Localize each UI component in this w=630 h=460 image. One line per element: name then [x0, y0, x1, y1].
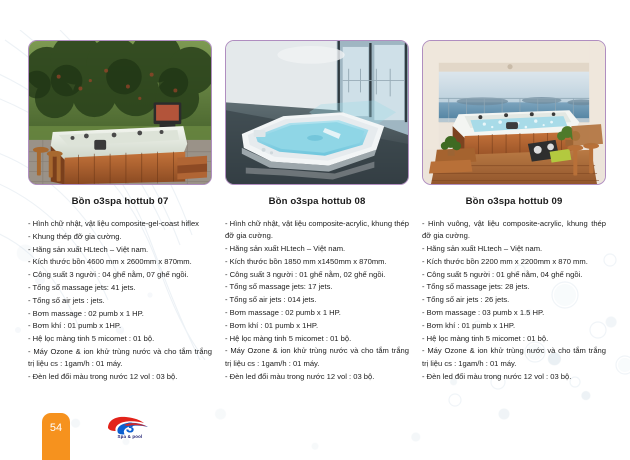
- spec-line: - Máy Ozone & ion khử trùng nước và cho …: [422, 345, 606, 370]
- spec-line: - Tổng số massage jets: 41 jets.: [28, 282, 212, 294]
- spec-line: - Hệ lọc màng tinh 5 micomet : 01 bộ.: [28, 333, 212, 345]
- spec-line: - Hãng sản xuất HLtech – Việt nam.: [225, 243, 409, 255]
- spec-line: - Công suất 3 người : 04 ghế nằm, 07 ghế…: [28, 269, 212, 281]
- spec-line: - Khung thép đỡ gia cường.: [28, 231, 212, 243]
- catalog-page: Bồn o3spa hottub 07 - Hình chữ nhật, vật…: [0, 0, 630, 460]
- spec-line: - Kích thước bồn 4600 mm x 2600mm x 870m…: [28, 256, 212, 268]
- spec-line: - Hệ lọc màng tinh 5 micomet : 01 bộ.: [422, 333, 606, 345]
- product-columns: Bồn o3spa hottub 07 - Hình chữ nhật, vật…: [28, 40, 606, 384]
- spec-line: - Công suất 3 người : 01 ghế nằm, 02 ghế…: [225, 269, 409, 281]
- spec-line: - Tổng số air jets : 014 jets.: [225, 294, 409, 306]
- spec-line: - Hình vuông, vật liệu composite-acrylic…: [422, 218, 606, 243]
- product-title-1: Bồn o3spa hottub 07: [28, 196, 212, 207]
- spec-line: - Tổng số massage jets: 28 jets.: [422, 281, 606, 293]
- product-title-3: Bồn o3spa hottub 09: [422, 196, 606, 207]
- spec-line: - Tổng số massage jets: 17 jets.: [225, 281, 409, 293]
- product-card-1: Bồn o3spa hottub 07 - Hình chữ nhật, vật…: [28, 40, 212, 384]
- spec-line: - Bơm khí : 01 pumb x 1HP.: [225, 320, 409, 332]
- product-title-2: Bồn o3spa hottub 08: [225, 196, 409, 207]
- spec-line: - Bơm khí : 01 pumb x 1HP.: [28, 320, 212, 332]
- product-card-3: Bồn o3spa hottub 09 - Hình vuông, vật li…: [422, 40, 606, 384]
- spec-line: - Tổng số air jets : 26 jets.: [422, 294, 606, 306]
- spec-line: - Đèn led đổi màu trong nước 12 vol : 03…: [225, 371, 409, 383]
- spec-line: - Kích thước bồn 1850 mm x1450mm x 870mm…: [225, 256, 409, 268]
- spec-line: - Máy Ozone & ion khử trùng nước và cho …: [28, 346, 212, 371]
- page-number: 54: [50, 422, 62, 434]
- spec-line: - Hãng sản xuất HLtech – Việt nam.: [422, 243, 606, 255]
- indoor-octagonal-spa-photo: [226, 41, 408, 184]
- product-specs-3: - Hình vuông, vật liệu composite-acrylic…: [422, 218, 606, 383]
- spec-line: - Kích thước bồn 2200 mm x 2200mm x 870 …: [422, 256, 606, 268]
- page-number-tab: 54: [42, 413, 70, 460]
- spec-line: - Máy Ozone & ion khử trùng nước và cho …: [225, 345, 409, 370]
- spec-line: - Bơm massage : 03 pumb x 1.5 HP.: [422, 307, 606, 319]
- spec-line: - Bơm khí : 01 pumb x 1HP.: [422, 320, 606, 332]
- spec-line: - Đèn led đổi màu trong nước 12 vol : 03…: [28, 371, 212, 383]
- product-specs-2: - Hình chữ nhật, vật liệu composite-acry…: [225, 218, 409, 383]
- spec-line: - Hãng sản xuất HLtech – Việt nam.: [28, 244, 212, 256]
- product-image-1[interactable]: [28, 40, 212, 185]
- outdoor-wood-surround-hot-tub-photo: [29, 41, 211, 184]
- product-specs-1: - Hình chữ nhật, vật liệu composite-gel-…: [28, 218, 212, 383]
- product-image-3[interactable]: [422, 40, 606, 185]
- spec-line: - Hệ lọc màng tinh 5 micomet : 01 bộ.: [225, 333, 409, 345]
- spec-line: - Bơm massage : 02 pumb x 1 HP.: [28, 308, 212, 320]
- logo-tagline: Spa & pool: [104, 434, 156, 439]
- spec-line: - Hình chữ nhật, vật liệu composite-gel-…: [28, 218, 212, 230]
- spec-line: - Công suất 5 người : 01 ghế nằm, 04 ghế…: [422, 269, 606, 281]
- spec-line: - Đèn led đổi màu trong nước 12 vol : 03…: [422, 371, 606, 383]
- product-card-2: Bồn o3spa hottub 08 - Hình chữ nhật, vật…: [225, 40, 409, 384]
- terrace-ocean-view-hot-tub-photo: [423, 41, 605, 184]
- spec-line: - Tổng số air jets : jets.: [28, 295, 212, 307]
- spec-line: - Bơm massage : 02 pumb x 1 HP.: [225, 307, 409, 319]
- product-image-2[interactable]: [225, 40, 409, 185]
- spec-line: - Hình chữ nhật, vật liệu composite-acry…: [225, 218, 409, 243]
